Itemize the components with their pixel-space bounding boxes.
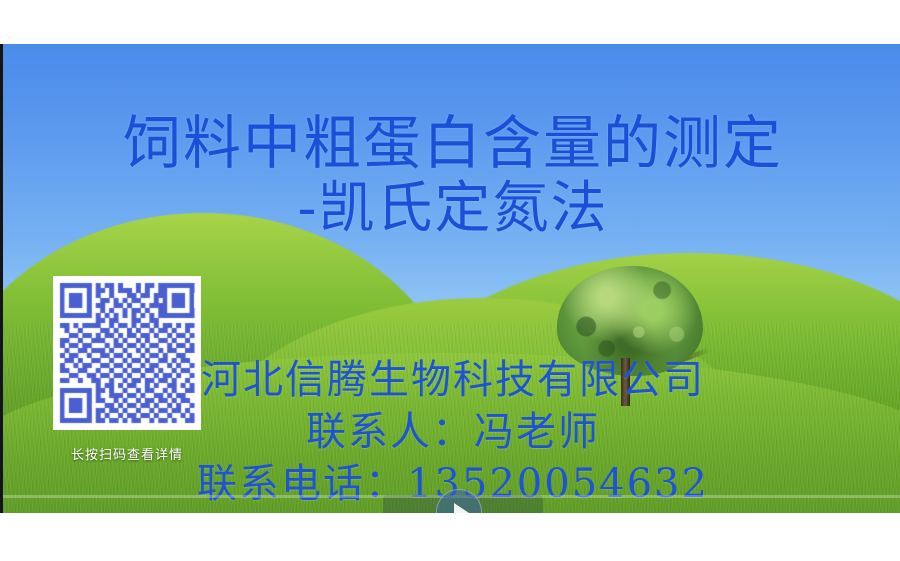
qr-code-caption: 长按扫码查看详情: [53, 444, 201, 463]
qr-code-image[interactable]: [53, 276, 201, 430]
page-top-blank-area: [0, 0, 900, 44]
video-controls-bar[interactable]: [3, 489, 900, 513]
video-player[interactable]: 饲料中粗蛋白含量的测定 -凯氏定氮法 河北信腾生物科技有限公司 联系人：冯老师 …: [0, 44, 900, 513]
play-icon: [454, 503, 469, 513]
tree-trunk: [621, 358, 630, 406]
tree-illustration: [549, 266, 709, 406]
page-bottom-blank-area: [0, 513, 900, 561]
screen: 饲料中粗蛋白含量的测定 -凯氏定氮法 河北信腾生物科技有限公司 联系人：冯老师 …: [0, 0, 900, 561]
qr-code-block[interactable]: 长按扫码查看详情: [53, 276, 201, 463]
play-button[interactable]: [436, 489, 482, 513]
tree-canopy: [557, 266, 703, 376]
